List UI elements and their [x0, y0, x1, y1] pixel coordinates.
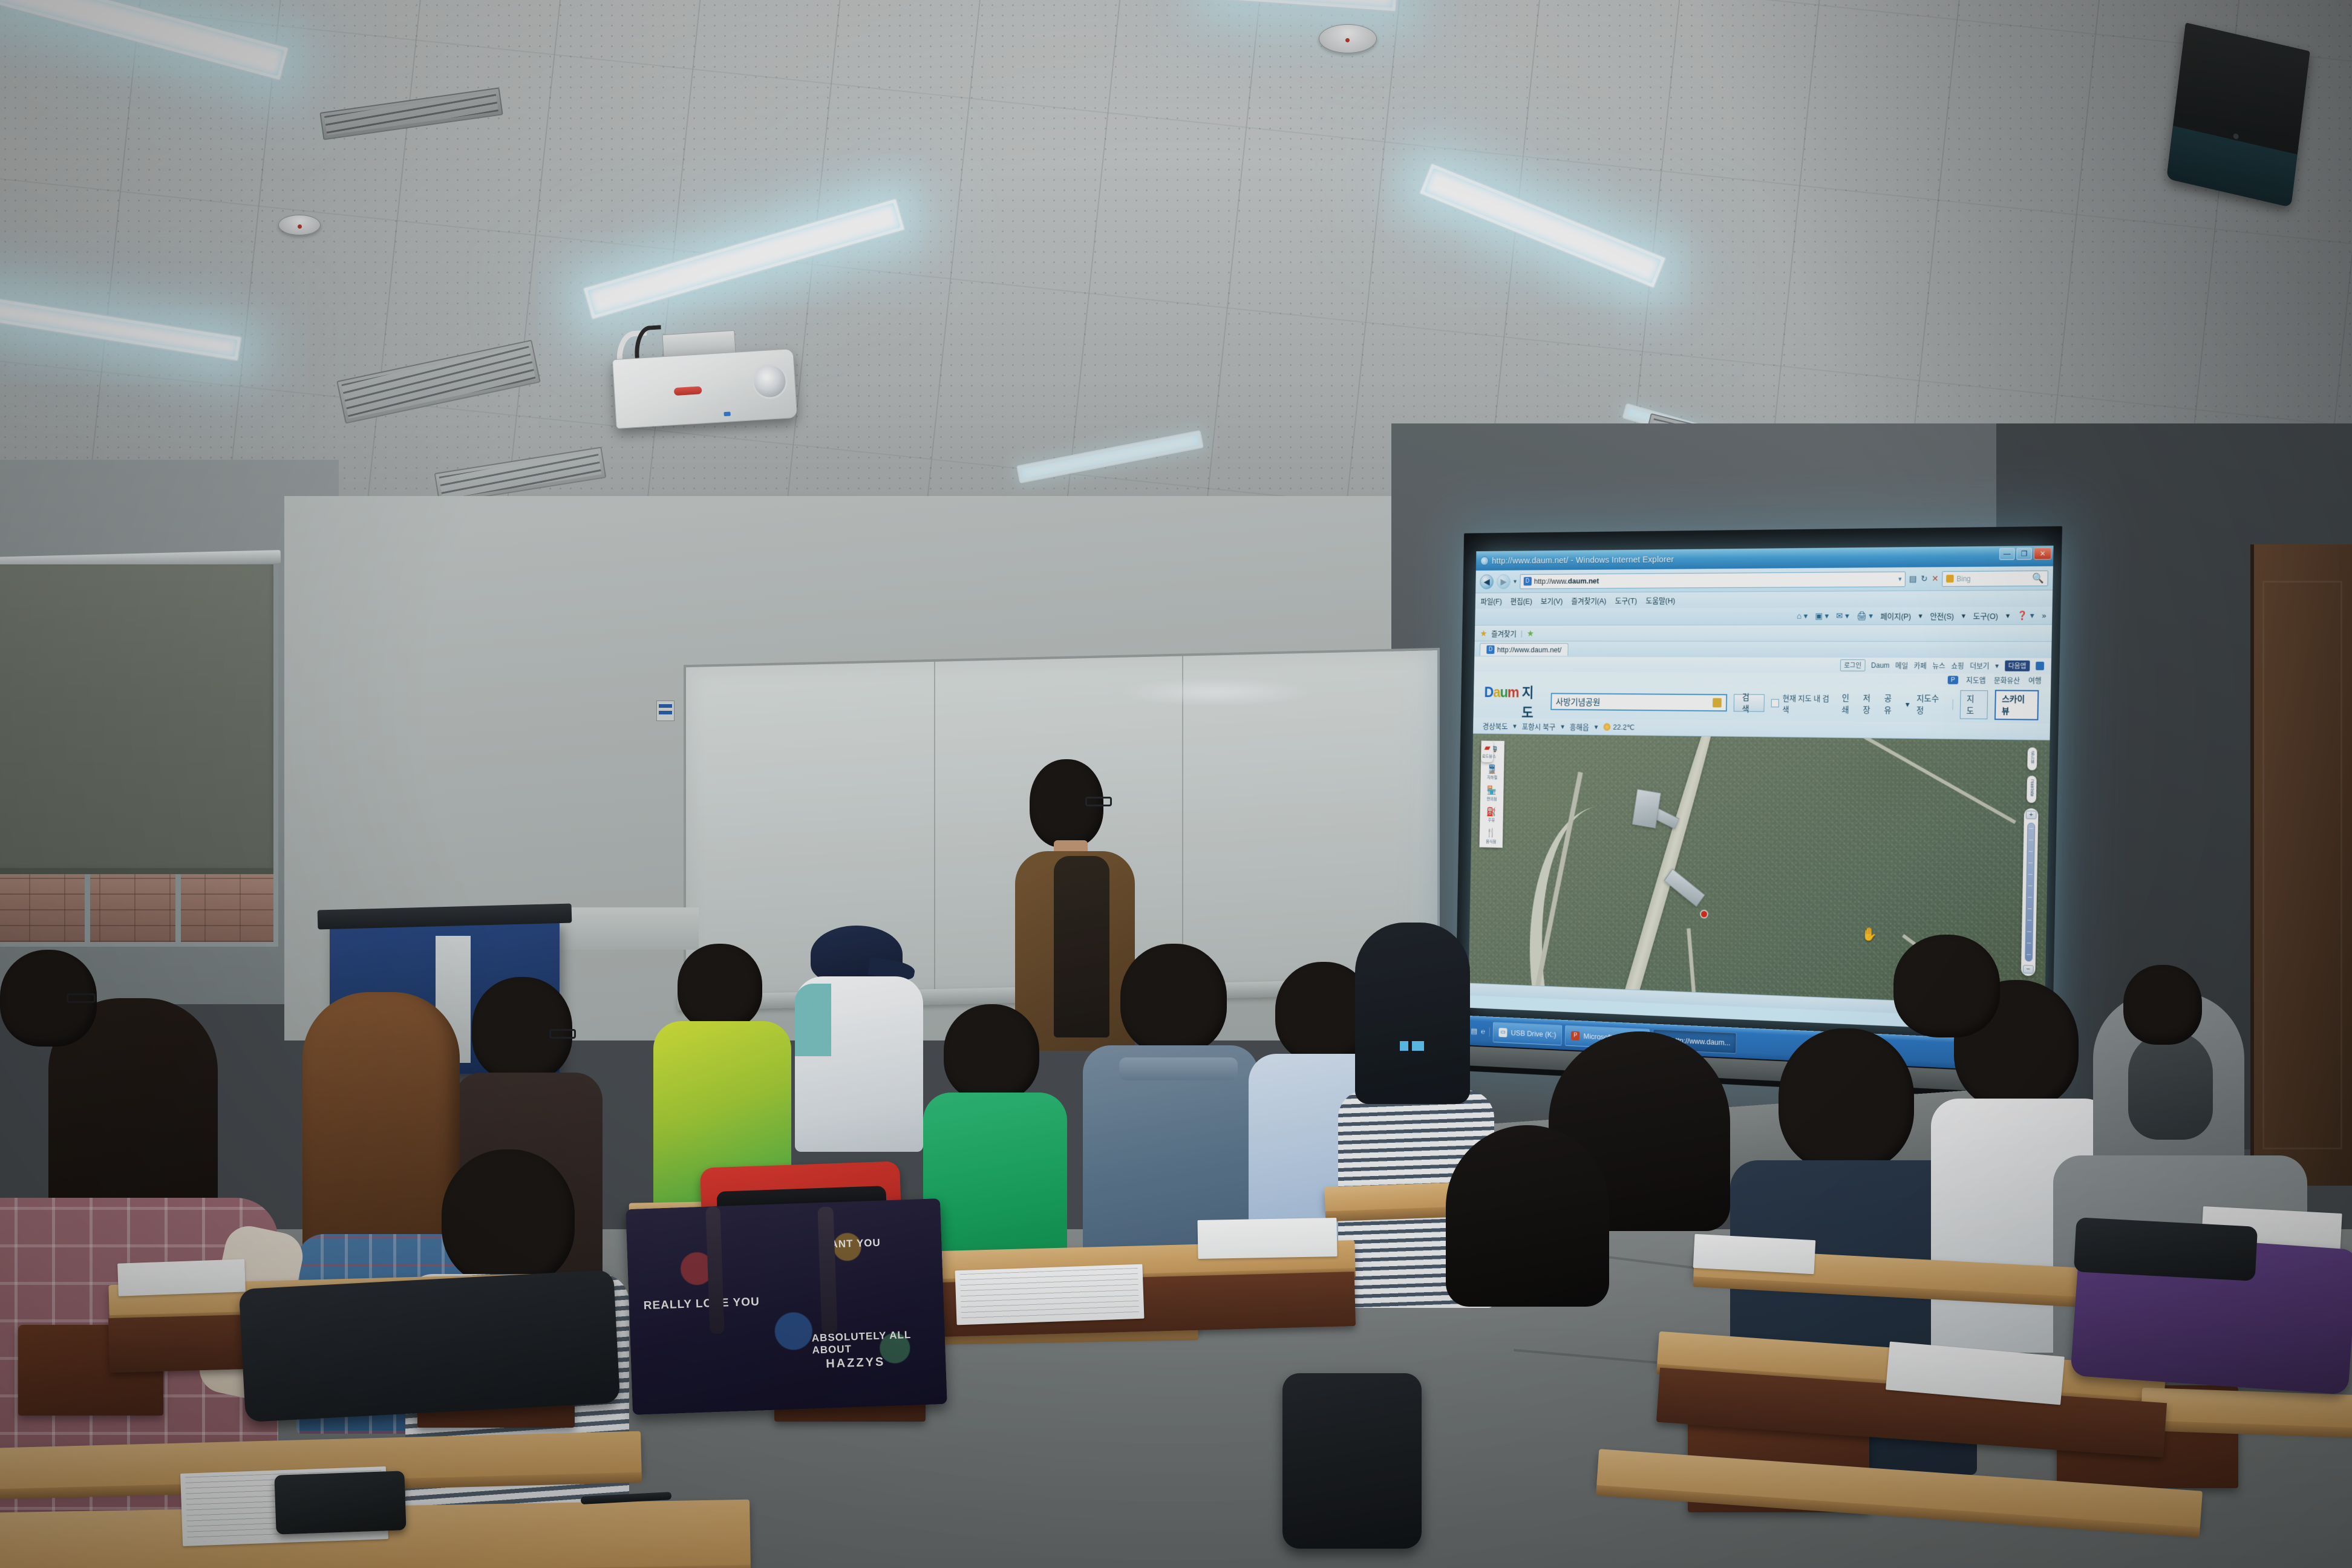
ie-favorites-bar: ★ 즐겨찾기 | ★	[1475, 625, 2052, 642]
daum-map-logo[interactable]: Daum 지도	[1484, 681, 1544, 722]
weather-readout: 22.2℃	[1603, 722, 1635, 732]
temperature-value: 22.2℃	[1613, 722, 1635, 732]
sidebar-label-restaurant: 음식점	[1480, 838, 1501, 844]
sidebar-item-roadview[interactable]: ▰ 로드뷰	[1481, 740, 1494, 762]
zoom-out-button[interactable]: −	[2023, 965, 2034, 974]
ceiling-dome-light	[278, 215, 321, 235]
checkbox-box[interactable]	[1771, 699, 1779, 708]
address-toolbuttons: ▤ ↻ ✕	[1909, 573, 1939, 584]
view-tab-skyview[interactable]: 스카이뷰	[1994, 690, 2039, 720]
student-denim-head	[1120, 944, 1227, 1054]
whiteboard-seam-1	[934, 662, 935, 996]
refresh-icon[interactable]: ↻	[1921, 573, 1928, 584]
student-purple-head	[2123, 965, 2202, 1045]
black-folded-cloth	[2074, 1217, 2258, 1281]
forward-button[interactable]: ▶	[1497, 574, 1511, 589]
map-logo-suffix: 지도	[1521, 681, 1544, 721]
ie-address-bar: ◀ ▶ ▾ D http://www.daum.net ▾ ▤ ↻ ✕ Bing…	[1475, 566, 2053, 593]
window-mullion-1	[85, 874, 90, 942]
pencil-case[interactable]	[274, 1471, 406, 1534]
breadcrumb-city[interactable]: 포항시 북구	[1522, 720, 1556, 732]
search-icon[interactable]: 🔍	[2032, 572, 2044, 584]
sidebar-label-subway: 지하철	[1481, 775, 1503, 781]
wall-speaker-right	[2166, 22, 2310, 207]
sidebar-item-subway[interactable]: 🚆 지하철	[1480, 762, 1504, 783]
command-tools[interactable]: 도구(O)	[1973, 610, 1998, 621]
sidebar-item-store[interactable]: 🏪 편의점	[1480, 783, 1504, 805]
minimize-button[interactable]: —	[1999, 548, 2015, 560]
ceiling-projector	[612, 348, 797, 429]
tote-text-1: REALLY LOVE YOU	[643, 1296, 760, 1313]
address-chevron-down-icon[interactable]: ▾	[1898, 575, 1902, 583]
command-overflow-icon[interactable]: »	[2042, 611, 2046, 620]
qr-icon	[2036, 662, 2044, 670]
ie-icon	[1480, 557, 1489, 566]
map-search-button[interactable]: 검색	[1734, 694, 1765, 711]
student-rear-head	[1893, 935, 2000, 1037]
login-button[interactable]: 로그인	[1840, 659, 1866, 671]
sun-icon	[1603, 723, 1610, 730]
browser-tab[interactable]: D http://www.daum.net/	[1480, 643, 1569, 656]
roadview-toggle[interactable]: 로드뷰	[2027, 747, 2037, 770]
exterior-brick-wall	[0, 874, 273, 942]
menu-edit[interactable]: 편집(E)	[1511, 595, 1532, 606]
tool-save[interactable]: 저장	[1863, 692, 1877, 716]
menu-tools[interactable]: 도구(T)	[1615, 595, 1638, 606]
sidebar-label-roadview: 로드뷰	[1482, 753, 1492, 759]
roadview-toggle-label: 로드뷰	[2029, 751, 2035, 763]
ie-command-bar: ⌂ ▾ ▣ ▾ ✉ ▾ 🖨 ▾ 페이지(P)▾ 안전(S)▾ 도구(O)▾ ❓ …	[1475, 607, 2052, 626]
subway-icon: 🚆	[1481, 765, 1503, 774]
breadcrumb-province[interactable]: 경상북도	[1483, 720, 1508, 731]
address-input[interactable]: D http://www.daum.net ▾	[1520, 571, 1906, 589]
paper-right-3[interactable]	[1693, 1234, 1816, 1274]
student-darkblue-glasses	[67, 993, 96, 1003]
close-button[interactable]: ✕	[2034, 547, 2052, 560]
maximize-button[interactable]: ❐	[2016, 547, 2032, 560]
search-in-current-map-checkbox[interactable]: 현재 지도 내 검색	[1771, 692, 1835, 715]
map-app-badge: P	[1948, 676, 1958, 684]
history-chevron-down-icon[interactable]: ▾	[1514, 578, 1517, 585]
show-desktop-icon[interactable]: ▤	[1471, 1026, 1477, 1035]
link-daum[interactable]: Daum	[1871, 661, 1890, 670]
map-pin-marker[interactable]	[1701, 911, 1707, 918]
stop-icon[interactable]: ✕	[1932, 573, 1939, 584]
map-sidebar-tools: ▰ 로드뷰 🚌 버스 🚆 지하철	[1480, 740, 1504, 848]
black-backpack-floor	[1282, 1373, 1422, 1549]
print-icon[interactable]: 🖨 ▾	[1857, 611, 1873, 621]
menu-help[interactable]: 도움말(H)	[1645, 595, 1675, 606]
command-page[interactable]: 페이지(P)	[1880, 610, 1911, 622]
add-favorite-icon[interactable]: ★	[1527, 628, 1534, 638]
daum-header-links: 로그인 Daum 메일 카페 뉴스 쇼핑 더보기▾ 다음앱	[1840, 659, 2045, 672]
student-yellow-head	[678, 944, 762, 1030]
home-icon[interactable]: ⌂ ▾	[1797, 611, 1808, 621]
tool-share[interactable]: 공유	[1884, 692, 1899, 716]
whiteboard-glare	[1119, 678, 1313, 707]
instructor-shirt	[1054, 856, 1109, 1037]
address-url: http://www.daum.net	[1534, 577, 1599, 586]
hh-logo	[1400, 1041, 1424, 1051]
map-search-row: Daum 지도 사방기념공원 검색 현재 지도 내 검색 인쇄 저장	[1473, 684, 2051, 724]
ie-window-title: http://www.daum.net/ - Windows Internet …	[1492, 554, 1674, 566]
zoom-slider-stack[interactable]: + −	[2021, 808, 2039, 976]
breadcrumb-town[interactable]: 흥해읍	[1570, 721, 1589, 732]
roadview-icon: ▰	[1482, 743, 1492, 753]
paper-left-small[interactable]	[117, 1259, 246, 1296]
taskbar-item-usb[interactable]: ▭ USB Drive (K:)	[1493, 1022, 1563, 1045]
sidebar-label-parking: 주유	[1481, 817, 1502, 823]
window-roller-blind[interactable]	[0, 564, 273, 874]
traffic-toggle-label: 교통상황	[2028, 779, 2034, 796]
help-icon[interactable]: ❓ ▾	[2017, 610, 2034, 621]
hood-gray-face	[2128, 1031, 2213, 1140]
window-left	[0, 560, 278, 947]
keyboard-icon[interactable]	[1713, 698, 1722, 708]
menu-favorites[interactable]: 즐겨찾기(A)	[1571, 595, 1606, 606]
sub-link-heritage[interactable]: 문화유산	[1994, 675, 2020, 685]
map-search-value: 사방기념공원	[1556, 696, 1601, 708]
quick-launch: ▤ ℮	[1471, 1026, 1490, 1036]
restaurant-icon: 🍴	[1481, 829, 1502, 838]
favorites-label[interactable]: 즐겨찾기	[1491, 628, 1517, 639]
usb-drive-icon: ▭	[1498, 1028, 1507, 1037]
graphic-tote-bag: REALLY LOVE YOU WANT YOU ABSOLUTELY ALL …	[626, 1198, 947, 1415]
wall-label-sticker	[656, 701, 675, 721]
checkbox-label: 현재 지도 내 검색	[1782, 692, 1835, 715]
paper-back-center[interactable]	[1197, 1218, 1337, 1259]
projector-led	[724, 411, 730, 416]
mail-icon[interactable]: ✉ ▾	[1836, 611, 1849, 621]
favorites-star-icon[interactable]: ★	[1480, 628, 1487, 638]
link-shopping[interactable]: 쇼핑	[1951, 661, 1964, 671]
tab-favicon: D	[1486, 645, 1494, 653]
map-search-input[interactable]: 사방기념공원	[1550, 693, 1727, 711]
daum-app-badge[interactable]: 다음앱	[2005, 661, 2030, 671]
smoke-detector	[1319, 24, 1377, 53]
projector-body	[612, 348, 797, 429]
student-glasses-frames	[549, 1029, 576, 1039]
bing-icon	[1946, 575, 1954, 583]
blind-bottom-bar	[0, 868, 273, 874]
desk-right-far	[2141, 1388, 2352, 1429]
tote-text-4: HAZZYS	[826, 1355, 886, 1371]
powerpoint-icon: P	[1571, 1031, 1579, 1040]
search-input[interactable]: Bing 🔍	[1942, 570, 2048, 587]
denim-collar	[1119, 1057, 1238, 1080]
classroom-scene: http://www.daum.net/ - Windows Internet …	[0, 0, 2352, 1568]
foreground-head-2	[1446, 1125, 1609, 1307]
sidebar-item-parking[interactable]: ⛽ 주유	[1480, 805, 1503, 826]
student-green-head	[944, 1004, 1039, 1101]
link-mail[interactable]: 메일	[1895, 661, 1908, 671]
projector-lens	[751, 363, 788, 400]
map-tool-links: 인쇄 저장 공유▾ 지도수정 지도 스카이뷰	[1841, 689, 2039, 720]
tool-print[interactable]: 인쇄	[1841, 692, 1856, 716]
parking-icon: ⛽	[1481, 807, 1502, 817]
black-bag-under-desk	[239, 1270, 621, 1422]
menu-file[interactable]: 파일(F)	[1480, 595, 1502, 606]
command-bar-buttons: ⌂ ▾ ▣ ▾ ✉ ▾ 🖨 ▾ 페이지(P)▾ 안전(S)▾ 도구(O)▾ ❓ …	[1797, 610, 2047, 622]
link-cafe[interactable]: 카페	[1913, 661, 1926, 671]
compat-view-icon[interactable]: ▤	[1909, 574, 1917, 584]
whiteboard-seam-2	[1182, 656, 1183, 990]
projector-red-connector	[674, 386, 702, 396]
window-glass	[0, 874, 273, 942]
tool-edit-map[interactable]: 지도수정	[1916, 693, 1946, 717]
paper-front-center[interactable]	[955, 1264, 1145, 1325]
student-navy-head	[1779, 1028, 1914, 1171]
instructor-glasses	[1085, 797, 1112, 806]
door-right[interactable]	[2250, 544, 2352, 1186]
student-cap-teal-trim	[795, 984, 831, 1056]
link-news[interactable]: 뉴스	[1932, 661, 1945, 671]
search-placeholder: Bing	[1956, 574, 1971, 583]
tab-label: http://www.daum.net/	[1497, 645, 1562, 653]
window-controls: — ❐ ✕	[1999, 547, 2052, 560]
feeds-icon[interactable]: ▣ ▾	[1815, 611, 1829, 621]
zoom-in-button[interactable]: +	[2026, 811, 2037, 819]
sub-link-mapapp[interactable]: 지도앱	[1966, 675, 1985, 685]
zoom-slider[interactable]	[2025, 823, 2035, 962]
view-tab-map[interactable]: 지도	[1960, 690, 1988, 719]
sub-link-travel[interactable]: 여행	[2028, 675, 2042, 685]
back-button[interactable]: ◀	[1480, 574, 1494, 589]
hand-cursor-icon: ✋	[1861, 927, 1877, 942]
link-more[interactable]: 더보기	[1970, 661, 1989, 671]
menu-view[interactable]: 보기(V)	[1541, 595, 1563, 606]
store-icon: 🏪	[1481, 786, 1503, 795]
hood-black	[1355, 923, 1470, 1104]
taskbar-label-usb: USB Drive (K:)	[1511, 1028, 1557, 1039]
sidebar-item-restaurant[interactable]: 🍴 음식점	[1480, 826, 1503, 848]
sidebar-label-store: 편의점	[1481, 796, 1503, 802]
command-safety[interactable]: 안전(S)	[1930, 610, 1954, 621]
page-icon: D	[1523, 577, 1531, 586]
ie-quick-icon[interactable]: ℮	[1481, 1027, 1485, 1036]
ie-menu-bar: 파일(F) 편집(E) 보기(V) 즐겨찾기(A) 도구(T) 도움말(H)	[1475, 590, 2053, 609]
ie-tab-strip: D http://www.daum.net/	[1474, 641, 2051, 659]
student-striped-left-head	[442, 1149, 575, 1286]
window-mullion-2	[175, 874, 181, 942]
traffic-toggle[interactable]: 교통상황	[2027, 776, 2037, 803]
daum-wordmark: Daum	[1484, 685, 1519, 702]
